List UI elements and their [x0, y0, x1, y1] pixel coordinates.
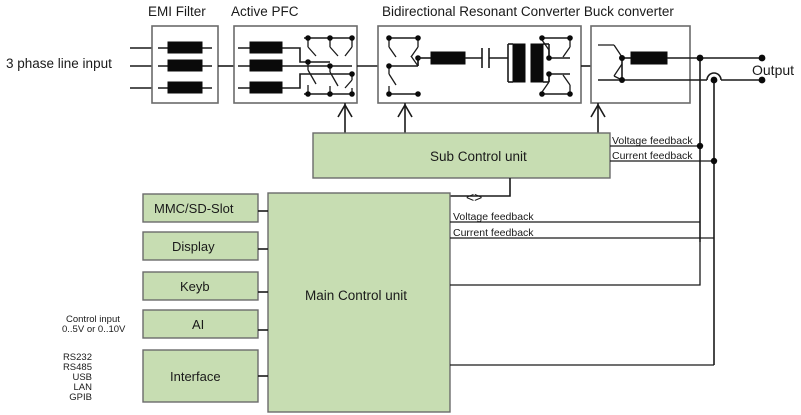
peripheral-label-ai: AI — [192, 317, 204, 332]
control-bus-link: <> — [448, 178, 510, 205]
peripheral-label-mmc-sd-slot: MMC/SD-Slot — [154, 201, 234, 216]
main-control-feedback: Voltage feedback Current feedback — [450, 211, 714, 239]
control-input-annotation: Control input 0..5V or 0..10V — [62, 314, 126, 335]
peripheral-interface[interactable]: Interface — [143, 350, 268, 402]
buck-inductor — [631, 52, 667, 64]
peripheral-label-interface: Interface — [170, 369, 221, 384]
buck-converter-block — [591, 26, 690, 103]
sub-current-feedback-label: Current feedback — [612, 150, 693, 162]
output-terminal-positive — [759, 55, 766, 62]
current-tap-node — [711, 77, 718, 84]
sub-control-drive-arrows — [338, 103, 605, 133]
interface-gpib: GPIB — [69, 392, 92, 403]
input-label: 3 phase line input — [6, 56, 112, 71]
interface-list-annotation: RS232 RS485 USB LAN GPIB — [63, 352, 92, 403]
output-wiring: Output — [684, 55, 794, 365]
title-emi-filter: EMI Filter — [148, 4, 206, 19]
title-converters: Bidirectional Resonant Converter Buck co… — [382, 4, 674, 19]
emi-filter-block — [152, 26, 218, 103]
sub-control-feedback: Voltage feedback Current feedback — [610, 135, 717, 164]
title-active-pfc: Active PFC — [231, 4, 299, 19]
peripheral-keyb[interactable]: Keyb — [143, 272, 268, 300]
peripheral-mmc-sd-slot[interactable]: MMC/SD-Slot — [143, 194, 268, 222]
pfc-inductor-1 — [250, 42, 282, 53]
peripheral-label-keyb: Keyb — [180, 279, 210, 294]
control-input-line-2: 0..5V or 0..10V — [62, 324, 126, 335]
sub-control-unit[interactable]: Sub Control unit — [313, 133, 610, 178]
feedback-return-paths — [450, 242, 714, 365]
resonant-converter-block — [378, 26, 581, 103]
sub-voltage-feedback-label: Voltage feedback — [612, 135, 693, 147]
three-phase-input-lines — [130, 48, 152, 88]
emi-component-3 — [168, 82, 202, 93]
block-diagram: EMI Filter Active PFC Bidirectional Reso… — [0, 0, 801, 415]
voltage-tap-node — [697, 55, 704, 62]
main-current-feedback-label: Current feedback — [453, 227, 534, 239]
resonant-inductor — [431, 52, 465, 64]
emi-component-2 — [168, 60, 202, 71]
pfc-inductor-3 — [250, 82, 282, 93]
bus-arrow-label: <> — [466, 189, 482, 205]
peripheral-label-display: Display — [172, 239, 215, 254]
main-control-unit-label: Main Control unit — [305, 288, 407, 303]
output-label: Output — [752, 62, 794, 78]
emi-component-1 — [168, 42, 202, 53]
main-control-unit[interactable]: Main Control unit — [268, 193, 450, 412]
active-pfc-block — [234, 26, 357, 103]
peripheral-ai[interactable]: AI — [143, 310, 268, 338]
sub-control-unit-label: Sub Control unit — [430, 149, 527, 164]
pfc-inductor-2 — [250, 60, 282, 71]
main-voltage-feedback-label: Voltage feedback — [453, 211, 534, 223]
peripheral-display[interactable]: Display — [143, 232, 268, 260]
